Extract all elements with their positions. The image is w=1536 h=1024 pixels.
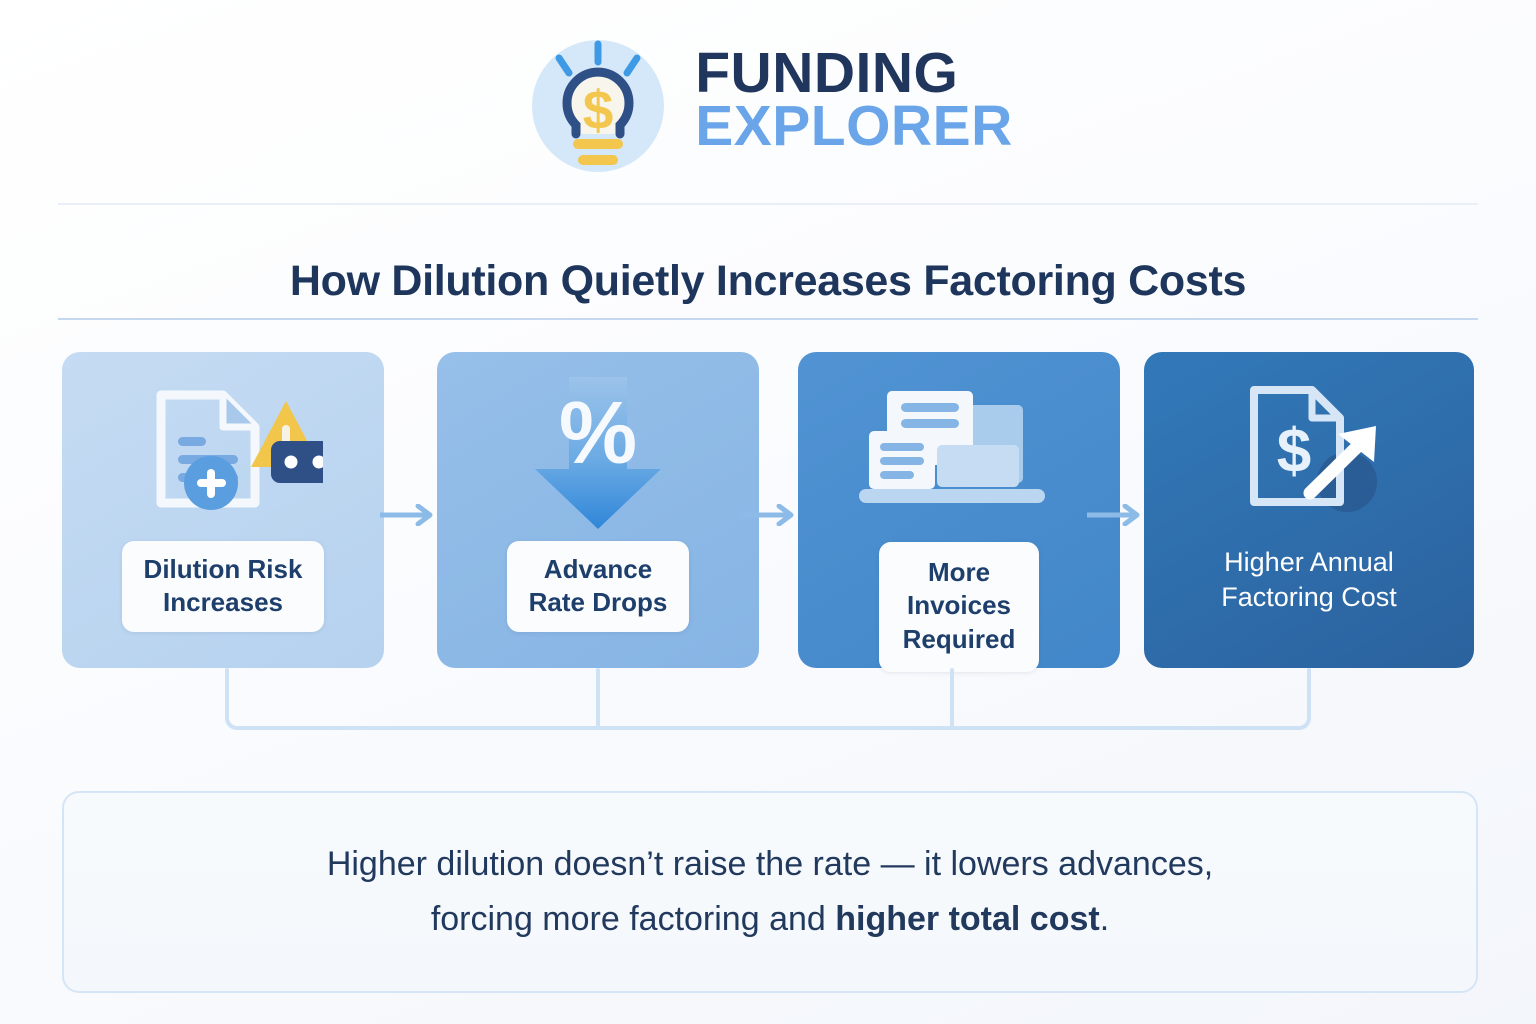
page-title: How Dilution Quietly Increases Factoring… <box>0 257 1536 306</box>
summary-line2-bold: higher total cost <box>835 900 1099 938</box>
brand-header: $ FUNDING EXPLORER <box>0 28 1536 178</box>
divider-bottom <box>58 318 1478 320</box>
bracket-connector <box>62 668 1474 748</box>
svg-text:$: $ <box>583 79 614 141</box>
flow-step-dilution-risk[interactable]: Dilution Risk Increases <box>62 352 384 668</box>
summary-line2-prefix: forcing more factoring and <box>431 900 835 938</box>
stacked-documents-icon <box>859 366 1059 538</box>
flow-step-label-line3: Required <box>903 624 1016 654</box>
lightbulb-dollar-icon: $ <box>523 28 673 178</box>
invoice-dollar-rising-arrow-icon: $ <box>1214 366 1404 541</box>
flow-step-label-line2: Invoices <box>907 590 1011 620</box>
brand-name-line2: EXPLORER <box>695 100 1013 153</box>
document-warning-plus-icon <box>123 366 323 541</box>
flow-step-label-line1: More <box>928 557 990 587</box>
flow-step-label-line1: Higher Annual <box>1224 547 1394 577</box>
summary-box: Higher dilution doesn’t raise the rate —… <box>62 791 1478 993</box>
arrow-right-icon <box>741 504 799 526</box>
svg-text:%: % <box>559 383 637 482</box>
svg-text:$: $ <box>1277 417 1311 486</box>
summary-text: Higher dilution doesn’t raise the rate —… <box>327 837 1213 947</box>
brand-name-line1: FUNDING <box>695 47 1013 100</box>
summary-line2-suffix: . <box>1100 900 1109 938</box>
arrow-right-icon <box>1087 504 1145 526</box>
divider-top <box>58 203 1478 205</box>
flow-step-label-line1: Dilution Risk <box>144 554 303 584</box>
arrow-right-icon <box>380 504 438 526</box>
flow-step-label: Advance Rate Drops <box>507 541 690 632</box>
flow-step-label: Higher Annual Factoring Cost <box>1211 541 1407 619</box>
percent-down-arrow-icon: % <box>513 366 683 541</box>
flow-step-more-invoices[interactable]: More Invoices Required <box>798 352 1120 668</box>
flow-step-higher-cost[interactable]: $ Higher Annual Factoring Cost <box>1144 352 1474 668</box>
flow-step-label-line2: Factoring Cost <box>1221 582 1397 612</box>
flow-step-label: Dilution Risk Increases <box>122 541 325 632</box>
flow-step-label: More Invoices Required <box>879 542 1040 672</box>
summary-line1: Higher dilution doesn’t raise the rate —… <box>327 845 1213 883</box>
flow-step-advance-rate[interactable]: % Advance Rate Drops <box>437 352 759 668</box>
flow-step-label-line2: Rate Drops <box>529 587 668 617</box>
flow-step-label-line2: Increases <box>163 587 283 617</box>
process-flow: Dilution Risk Increases % <box>62 352 1474 672</box>
flow-step-label-line1: Advance <box>544 554 652 584</box>
